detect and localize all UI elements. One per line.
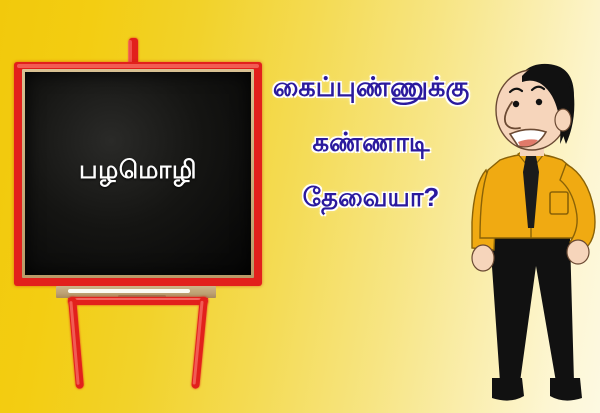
chalk-stick — [68, 289, 190, 293]
blackboard-text: பழமொழி — [79, 157, 197, 185]
poster-canvas: பழமொழி கைப்புண்ணுக்கு கண்ணாடி தேவையா? — [0, 0, 600, 413]
eye-left — [513, 101, 519, 107]
easel: பழமொழி — [0, 0, 270, 413]
trousers — [490, 238, 574, 382]
headline-line-3: தேவையா? — [258, 183, 484, 212]
hand-left — [472, 245, 494, 271]
easel-leg-left — [68, 297, 84, 389]
easel-cross-rail — [68, 297, 208, 305]
blackboard-inner-border: பழமொழி — [22, 69, 254, 278]
eye-right — [536, 99, 542, 105]
cartoon-man — [462, 52, 600, 413]
headline-line-2: கண்ணாடி — [258, 128, 484, 157]
hand-right — [567, 240, 589, 264]
blackboard-surface: பழமொழி — [25, 72, 251, 275]
shoe-left — [492, 378, 524, 401]
blackboard-frame: பழமொழி — [14, 62, 262, 286]
headline-block: கைப்புண்ணுக்கு கண்ணாடி தேவையா? — [258, 72, 484, 212]
shoe-right — [550, 378, 582, 401]
easel-leg-right — [191, 297, 208, 389]
ear — [555, 109, 571, 131]
headline-line-1: கைப்புண்ணுக்கு — [258, 72, 484, 102]
